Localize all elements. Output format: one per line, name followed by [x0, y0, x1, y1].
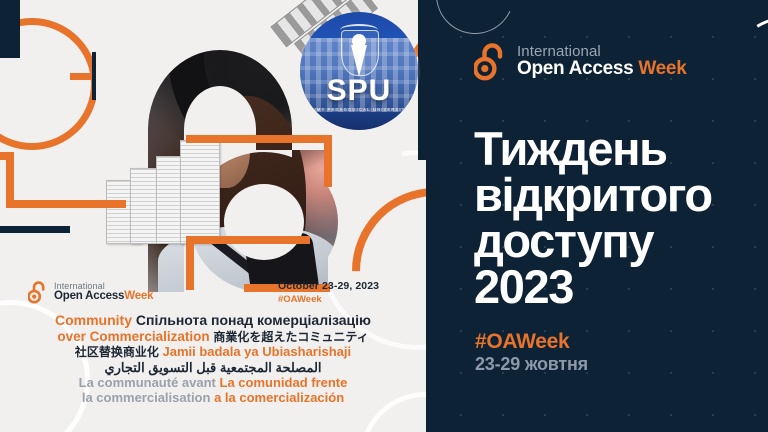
open-lock-icon — [28, 280, 48, 304]
paper-sheet — [180, 140, 220, 244]
theme-en-1: Community — [55, 312, 132, 328]
orange-segment-3 — [6, 200, 126, 208]
hashtag-small: #OAWeek — [278, 294, 379, 305]
headline-line-3: доступу — [474, 218, 742, 264]
theme-sw: Jamii badala ya Ubiasharishaji — [163, 344, 352, 359]
left-panel: SPU SUMY PEDAGOGICAL UNIVERSITY Internat… — [0, 0, 426, 432]
navy-block-decor-b — [0, 226, 70, 233]
open-access-week-logo-large: International Open Access Week — [474, 40, 686, 82]
headline-line-1: Тиждень — [474, 126, 742, 172]
navy-block-decor-a — [0, 0, 20, 58]
orange-segment-4 — [186, 135, 332, 143]
oaw-line-openaccessweek: Open AccessWeek — [54, 291, 153, 303]
date-ukrainian: 23-29 жовтня — [475, 354, 588, 375]
left-bottom-content: International Open AccessWeek October 23… — [0, 268, 426, 432]
oaw-openaccess-text: Open Access — [54, 290, 124, 302]
paper-collage — [106, 128, 226, 246]
date-range-text: October 23-29, 2023 — [278, 280, 379, 292]
orange-segment-7 — [186, 236, 310, 244]
spu-subtitle: SUMY PEDAGOGICAL UNIVERSITY — [300, 107, 418, 112]
theme-row-1: Community Спільнота понад комерціалізаці… — [0, 312, 426, 329]
headline-line-2: відкритого — [474, 172, 742, 218]
multilingual-theme-block: Community Спільнота понад комерціалізаці… — [0, 312, 426, 406]
theme-row-3: 社区替换商业化 Jamii badala ya Ubiasharishaji — [0, 344, 426, 359]
theme-fr-2: la commercialisation — [82, 390, 211, 405]
oaw-week-text: Week — [124, 290, 153, 302]
oaw-line-openaccessweek-large: Open Access Week — [517, 59, 686, 78]
spu-acronym: SPU — [300, 74, 418, 108]
open-lock-icon-large — [474, 40, 508, 82]
navy-edge-bar — [418, 0, 426, 160]
hashtag-large: #OAWeek — [475, 330, 569, 354]
theme-en-2: over Commercialization — [57, 329, 209, 344]
headline: Тиждень відкритого доступу 2023 — [474, 126, 742, 310]
theme-ar: المصلحة المجتمعية قبل التسويق التجاري — [0, 360, 426, 375]
oaw-line-international-large: International — [517, 44, 686, 59]
open-access-week-logo-small: International Open AccessWeek — [28, 280, 153, 304]
oaw-wordmark-large: International Open Access Week — [517, 44, 686, 79]
theme-uk: Спільнота понад комерціалізацію — [136, 312, 371, 328]
oaw-wordmark-small: International Open AccessWeek — [54, 282, 153, 303]
date-block-small: October 23-29, 2023 #OAWeek — [278, 280, 379, 305]
theme-row-5: La communauté avant La comunidad frente — [0, 375, 426, 390]
oaw-week-text-large: Week — [638, 58, 686, 79]
spu-university-badge[interactable]: SPU SUMY PEDAGOGICAL UNIVERSITY — [300, 12, 418, 130]
theme-ja: 商業化を超えたコミュニティ — [213, 330, 368, 344]
theme-fr-1: La communauté avant — [79, 375, 216, 390]
theme-row-6: la commercialisation a la comercializaci… — [0, 390, 426, 405]
theme-zh: 社区替换商业化 — [75, 345, 159, 359]
orange-segment-5 — [324, 135, 332, 187]
oaw-openaccess-text-large: Open Access — [517, 58, 633, 79]
date-dash-decor — [254, 287, 272, 291]
right-panel: International Open Access Week Тиждень в… — [426, 0, 768, 432]
theme-es-1: La comunidad frente — [220, 375, 348, 390]
headline-line-4: 2023 — [474, 264, 742, 310]
theme-row-2: over Commercialization 商業化を超えたコミュニティ — [0, 329, 426, 345]
theme-es-2: a la comercialización — [214, 390, 344, 405]
poster-canvas: SPU SUMY PEDAGOGICAL UNIVERSITY Internat… — [0, 0, 768, 432]
